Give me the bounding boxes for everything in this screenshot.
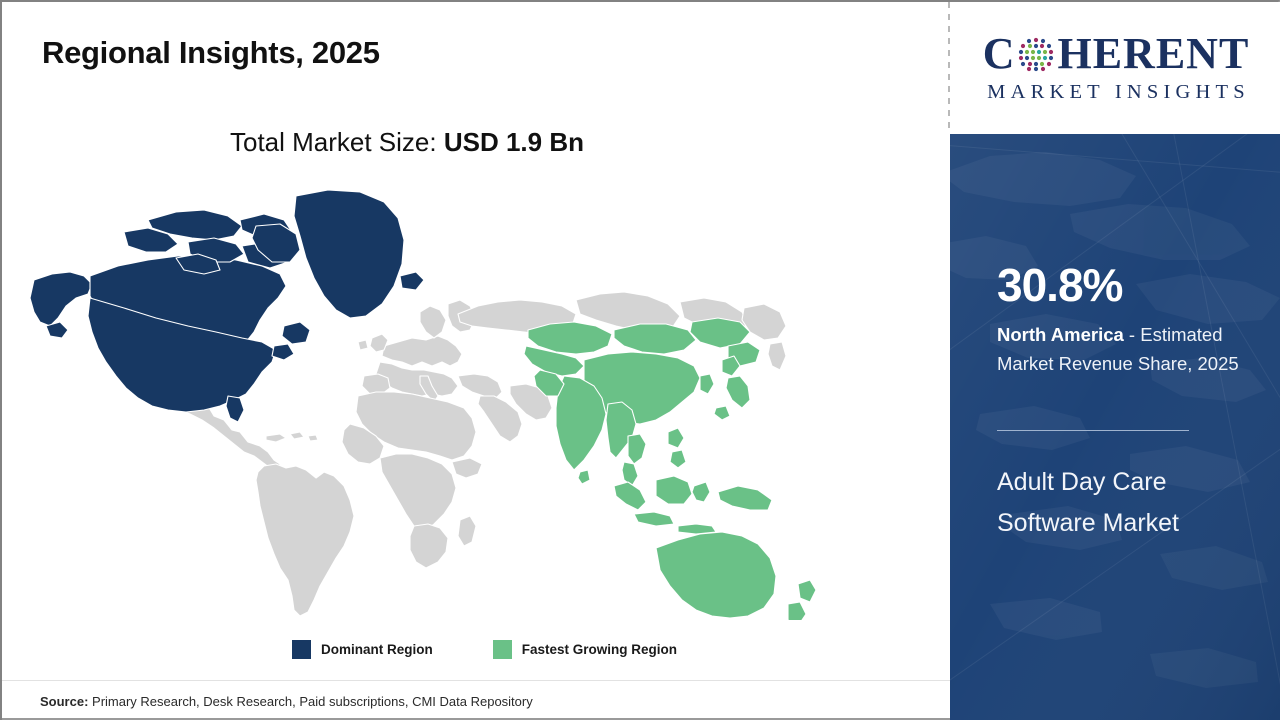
logo-letter-c: C: [983, 32, 1016, 76]
world-map: [28, 180, 828, 620]
coherent-market-insights-logo: C: [963, 32, 1269, 104]
market-size-value: USD 1.9 Bn: [444, 127, 584, 157]
main-panel: Regional Insights, 2025 Total Market Siz…: [2, 2, 950, 720]
legend-label-growing: Fastest Growing Region: [522, 642, 677, 657]
legend-item-dominant: Dominant Region: [292, 640, 433, 659]
total-market-size: Total Market Size: USD 1.9 Bn: [2, 127, 812, 158]
stat-description: North America - Estimated Market Revenue…: [997, 321, 1265, 378]
sidebar-body: 30.8% North America - Estimated Market R…: [950, 134, 1280, 720]
source-note: Source: Primary Research, Desk Research,…: [40, 694, 533, 709]
source-label: Source:: [40, 694, 88, 709]
market-size-label: Total Market Size:: [230, 127, 444, 157]
logo-wordmark: C: [963, 32, 1269, 76]
infographic-page: Regional Insights, 2025 Total Market Siz…: [0, 0, 1280, 720]
logo-word-herent: HERENT: [1057, 32, 1249, 76]
source-divider: [2, 680, 950, 681]
stat-value: 30.8%: [997, 262, 1122, 308]
page-title: Regional Insights, 2025: [42, 35, 380, 71]
dotted-globe-icon: [1016, 34, 1056, 74]
sidebar-background-texture: [950, 134, 1280, 720]
legend-swatch-growing: [493, 640, 512, 659]
source-text: Primary Research, Desk Research, Paid su…: [88, 694, 532, 709]
legend-swatch-dominant: [292, 640, 311, 659]
logo-area: C: [950, 2, 1280, 134]
stat-divider: [997, 430, 1189, 431]
legend-label-dominant: Dominant Region: [321, 642, 433, 657]
logo-subtitle: MARKET INSIGHTS: [963, 81, 1269, 104]
market-title: Adult Day Care Software Market: [997, 462, 1249, 543]
map-legend: Dominant Region Fastest Growing Region: [292, 640, 677, 659]
legend-item-growing: Fastest Growing Region: [493, 640, 677, 659]
sidebar: C: [950, 2, 1280, 720]
stat-region-name: North America: [997, 324, 1124, 345]
world-map-svg: [28, 180, 828, 620]
